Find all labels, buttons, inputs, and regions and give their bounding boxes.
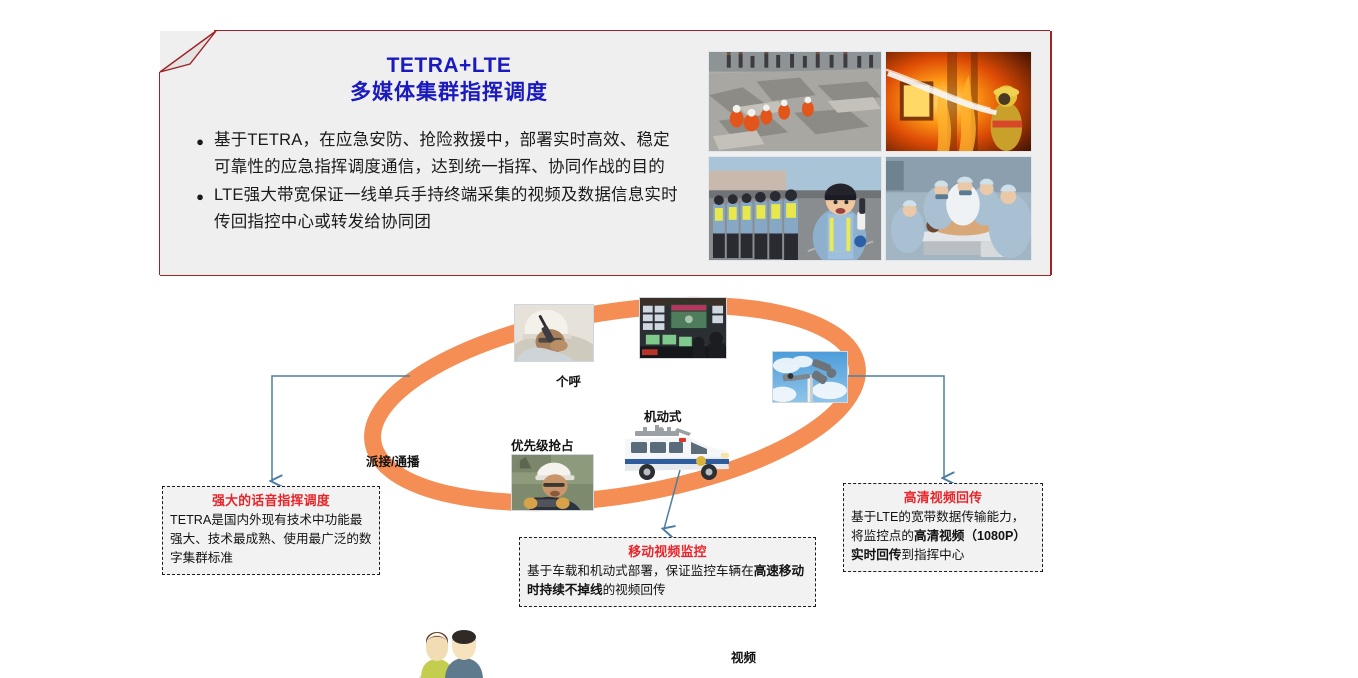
police-formation-photo bbox=[708, 156, 882, 261]
header-bullet-list: ● 基于TETRA，在应急安防、抢险救援中，部署实时高效、稳定可靠性的应急指挥调… bbox=[186, 127, 686, 237]
callout-body: TETRA是国内外现有技术中功能最强大、技术最成熟、使用最广泛的数字集群标准 bbox=[170, 511, 372, 568]
callout-title: 强大的话音指挥调度 bbox=[170, 491, 372, 510]
node-label-video: 视频 bbox=[731, 647, 756, 666]
list-item: ● LTE强大带宽保证一线单兵手持终端采集的视频及数据信息实时传回指控中心或转发… bbox=[186, 182, 686, 236]
panel-top-border bbox=[214, 30, 1050, 32]
folded-corner-icon bbox=[160, 31, 216, 75]
callout-mobile-video-surveillance: 移动视频监控 基于车载和机动式部署，保证监控车辆在高速移动时持续不掉线的视频回传 bbox=[519, 537, 816, 607]
bullet-marker-icon: ● bbox=[186, 127, 214, 148]
control-room-photo bbox=[639, 297, 727, 359]
node-label-priority: 优先级抢占 bbox=[511, 435, 574, 454]
callout-voice-dispatch: 强大的话音指挥调度 TETRA是国内外现有技术中功能最强大、技术最成熟、使用最广… bbox=[162, 486, 380, 575]
firefighting-photo bbox=[885, 51, 1032, 152]
slide-canvas: TETRA+LTE 多媒体集群指挥调度 ● 基于TETRA，在应急安防、抢险救援… bbox=[0, 0, 1358, 678]
bullet-text: 基于TETRA，在应急安防、抢险救援中，部署实时高效、稳定可靠性的应急指挥调度通… bbox=[214, 127, 686, 181]
callout-body: 基于车载和机动式部署，保证监控车辆在高速移动时持续不掉线的视频回传 bbox=[527, 562, 808, 600]
panel-left-border bbox=[159, 72, 161, 275]
process-diagram: 组呼 个呼 bbox=[0, 276, 1358, 678]
earthquake-rescue-photo bbox=[708, 51, 882, 152]
callout-text-segment: 的视频回传 bbox=[603, 583, 666, 597]
title-line-2: 多媒体集群指挥调度 bbox=[214, 79, 684, 107]
node-label-dispatch: 派接/通播 bbox=[366, 451, 419, 470]
title-line-1: TETRA+LTE bbox=[214, 53, 684, 79]
panel-right-border bbox=[1050, 31, 1052, 275]
command-van-photo bbox=[617, 425, 737, 487]
callout-title: 移动视频监控 bbox=[527, 542, 808, 561]
node-label-mobile: 机动式 bbox=[644, 406, 682, 425]
bullet-marker-icon: ● bbox=[186, 182, 214, 203]
orange-process-ring bbox=[355, 294, 875, 514]
surveillance-camera-photo bbox=[772, 351, 848, 403]
worker-radio-photo bbox=[511, 454, 594, 511]
callout-text-segment: 到指挥中心 bbox=[901, 548, 964, 562]
callout-text-segment: 在 bbox=[741, 564, 754, 578]
bullet-text: LTE强大带宽保证一线单兵手持终端采集的视频及数据信息实时传回指控中心或转发给协… bbox=[214, 182, 686, 236]
callout-text-segment: 基于车载和机动式部署，保证监控车辆 bbox=[527, 564, 741, 578]
callout-hd-video-backhaul: 高清视频回传 基于LTE的宽带数据传输能力，将监控点的高清视频（1080P）实时… bbox=[843, 483, 1043, 572]
header-panel: TETRA+LTE 多媒体集群指挥调度 ● 基于TETRA，在应急安防、抢险救援… bbox=[160, 31, 1051, 276]
callout-title: 高清视频回传 bbox=[851, 488, 1035, 507]
list-item: ● 基于TETRA，在应急安防、抢险救援中，部署实时高效、稳定可靠性的应急指挥调… bbox=[186, 127, 686, 181]
photo-collage bbox=[708, 51, 1033, 264]
medical-emergency-photo bbox=[885, 156, 1032, 261]
header-title-group: TETRA+LTE 多媒体集群指挥调度 bbox=[214, 53, 684, 107]
handheld-radio-photo bbox=[514, 304, 594, 362]
callout-text-segment: TETRA是国内外现有技术中功能最强大、技术最成熟、使用最广泛的数字集群标准 bbox=[170, 513, 372, 565]
two-persons-icon bbox=[415, 628, 487, 678]
callout-body: 基于LTE的宽带数据传输能力，将监控点的高清视频（1080P）实时回传到指挥中心 bbox=[851, 508, 1035, 565]
node-label-private-call: 个呼 bbox=[556, 371, 581, 390]
